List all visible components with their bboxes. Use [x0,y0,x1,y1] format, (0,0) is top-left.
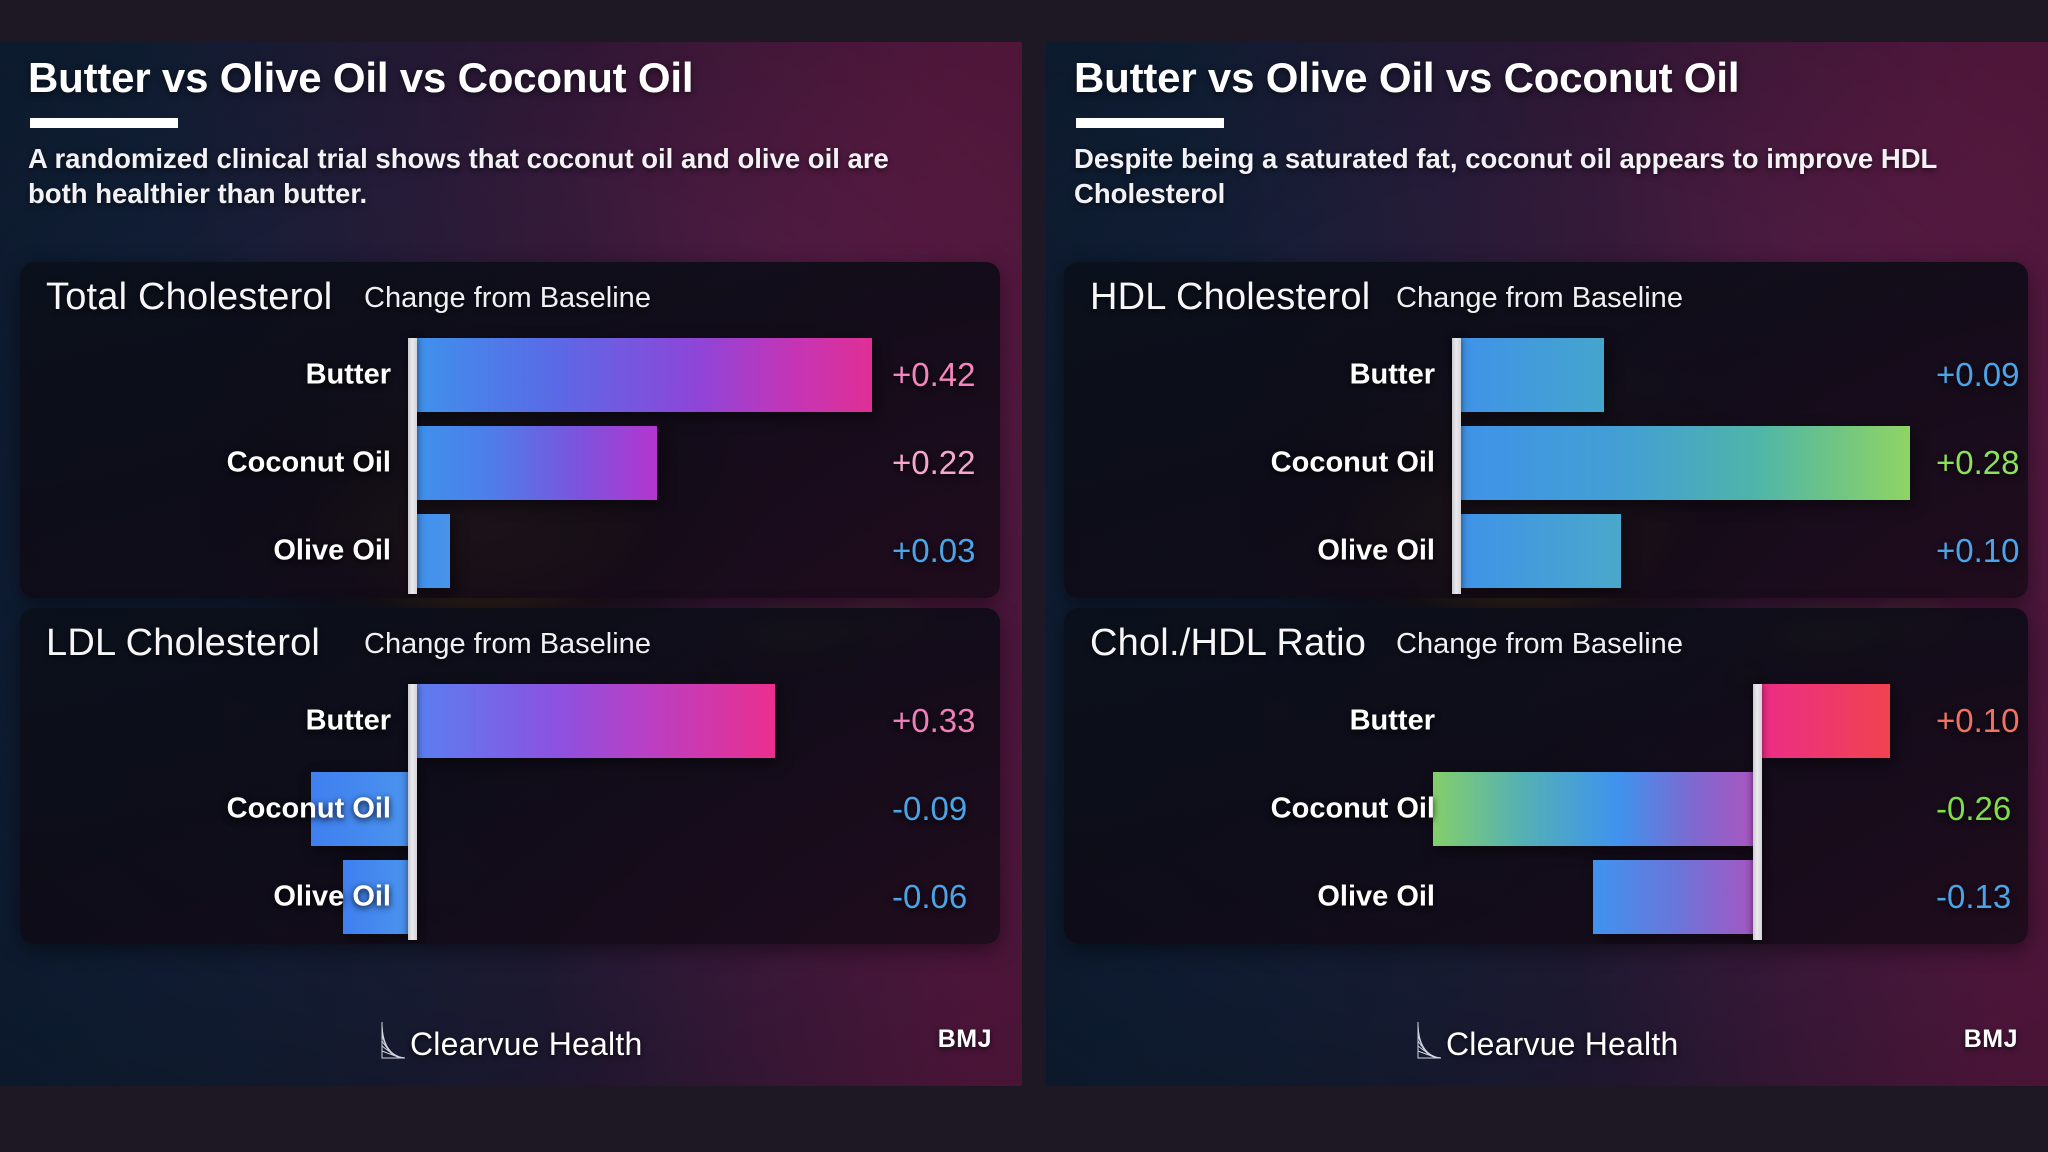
bar-value-label: +0.10 [1936,532,2020,570]
bar-category-label: Coconut Oil [1271,447,1435,480]
bar-butter [417,338,872,412]
chart-header: Total Cholesterol Change from Baseline [46,276,980,330]
bar-category-label: Butter [306,359,391,392]
bar-row: Olive Oil -0.13 [1064,854,2028,940]
bar-category-label: Coconut Oil [227,447,391,480]
bar-value-label: -0.13 [1936,878,2011,916]
bar-value-label: +0.28 [1936,444,2020,482]
bar-row: Coconut Oil -0.09 [20,766,1000,852]
chart-sublabel: Change from Baseline [364,628,651,661]
panel-header-left: Butter vs Olive Oil vs Coconut Oil A ran… [28,54,994,211]
bar-value-label: +0.22 [892,444,976,482]
bar-category-label: Coconut Oil [227,793,391,826]
fan-lines-icon [380,1020,406,1060]
panel-header-right: Butter vs Olive Oil vs Coconut Oil Despi… [1074,54,2020,211]
source-label: BMJ [938,1025,992,1054]
bar-value-label: -0.26 [1936,790,2011,828]
panel-left: Butter vs Olive Oil vs Coconut Oil A ran… [0,42,1022,1086]
chart-sublabel: Change from Baseline [364,282,651,315]
panel-footer-right: Clearvue Health BMJ [1046,1016,2048,1068]
bar-olive-oil [417,514,450,588]
panel-right: Butter vs Olive Oil vs Coconut Oil Despi… [1046,42,2048,1086]
chart-plot-area: Butter +0.09 Coconut Oil +0.28 Olive Oil… [1064,332,2028,594]
bar-butter [1461,338,1604,412]
bar-value-label: +0.42 [892,356,976,394]
bar-category-label: Olive Oil [273,535,391,568]
chart-plot-area: Butter +0.42 Coconut Oil +0.22 Olive Oil… [20,332,1000,594]
title-underline-rule [1076,118,1224,128]
chart-sublabel: Change from Baseline [1396,628,1683,661]
bar-value-label: +0.09 [1936,356,2020,394]
zero-baseline-axis [1452,338,1461,594]
bar-value-label: -0.06 [892,878,967,916]
bar-row: Olive Oil -0.06 [20,854,1000,940]
chart-card-chol-hdl-ratio: Chol./HDL Ratio Change from Baseline But… [1064,608,2028,944]
chart-card-total-cholesterol: Total Cholesterol Change from Baseline B… [20,262,1000,598]
bar-category-label: Butter [1350,359,1435,392]
bar-row: Butter +0.10 [1064,678,2028,764]
bar-category-label: Butter [306,705,391,738]
bar-row: Butter +0.42 [20,332,1000,418]
chart-header: LDL Cholesterol Change from Baseline [46,622,980,676]
bar-coconut-oil [417,426,657,500]
bar-butter [417,684,775,758]
bar-row: Butter +0.09 [1064,332,2028,418]
page-title: Butter vs Olive Oil vs Coconut Oil [28,54,994,102]
chart-plot-area: Butter +0.10 Coconut Oil -0.26 Olive Oil… [1064,678,2028,940]
bar-value-label: -0.09 [892,790,967,828]
chart-title: LDL Cholesterol [46,622,320,665]
bar-butter [1762,684,1890,758]
bar-row: Olive Oil +0.10 [1064,508,2028,594]
zero-baseline-axis [408,338,417,594]
panel-footer-left: Clearvue Health BMJ [0,1016,1022,1068]
bar-coconut-oil [1433,772,1753,846]
title-underline-rule [30,118,178,128]
bar-olive-oil [1461,514,1621,588]
bar-category-label: Butter [1350,705,1435,738]
bar-row: Coconut Oil -0.26 [1064,766,2028,852]
bar-category-label: Coconut Oil [1271,793,1435,826]
infographic-canvas: Butter vs Olive Oil vs Coconut Oil A ran… [0,0,2048,1152]
chart-card-hdl-cholesterol: HDL Cholesterol Change from Baseline But… [1064,262,2028,598]
zero-baseline-axis [1753,684,1762,940]
chart-title: HDL Cholesterol [1090,276,1370,319]
fan-lines-icon [1416,1020,1442,1060]
bar-row: Coconut Oil +0.28 [1064,420,2028,506]
bar-row: Coconut Oil +0.22 [20,420,1000,506]
brand-name: Clearvue Health [410,1028,642,1060]
chart-title: Chol./HDL Ratio [1090,622,1366,665]
chart-header: HDL Cholesterol Change from Baseline [1090,276,2008,330]
page-subtitle: A randomized clinical trial shows that c… [28,141,933,211]
bar-category-label: Olive Oil [1317,535,1435,568]
page-subtitle: Despite being a saturated fat, coconut o… [1074,141,1979,211]
chart-card-ldl-cholesterol: LDL Cholesterol Change from Baseline But… [20,608,1000,944]
page-title: Butter vs Olive Oil vs Coconut Oil [1074,54,2020,102]
zero-baseline-axis [408,684,417,940]
bar-category-label: Olive Oil [273,881,391,914]
bar-value-label: +0.10 [1936,702,2020,740]
bar-row: Olive Oil +0.03 [20,508,1000,594]
chart-plot-area: Butter +0.33 Coconut Oil -0.09 Olive Oil… [20,678,1000,940]
brand-lockup: Clearvue Health [380,1020,642,1060]
bar-coconut-oil [1461,426,1910,500]
bar-value-label: +0.33 [892,702,976,740]
bar-row: Butter +0.33 [20,678,1000,764]
chart-header: Chol./HDL Ratio Change from Baseline [1090,622,2008,676]
bar-olive-oil [1593,860,1753,934]
chart-title: Total Cholesterol [46,276,332,319]
bar-value-label: +0.03 [892,532,976,570]
chart-sublabel: Change from Baseline [1396,282,1683,315]
source-label: BMJ [1964,1025,2018,1054]
brand-name: Clearvue Health [1446,1028,1678,1060]
brand-lockup: Clearvue Health [1416,1020,1678,1060]
bar-category-label: Olive Oil [1317,881,1435,914]
